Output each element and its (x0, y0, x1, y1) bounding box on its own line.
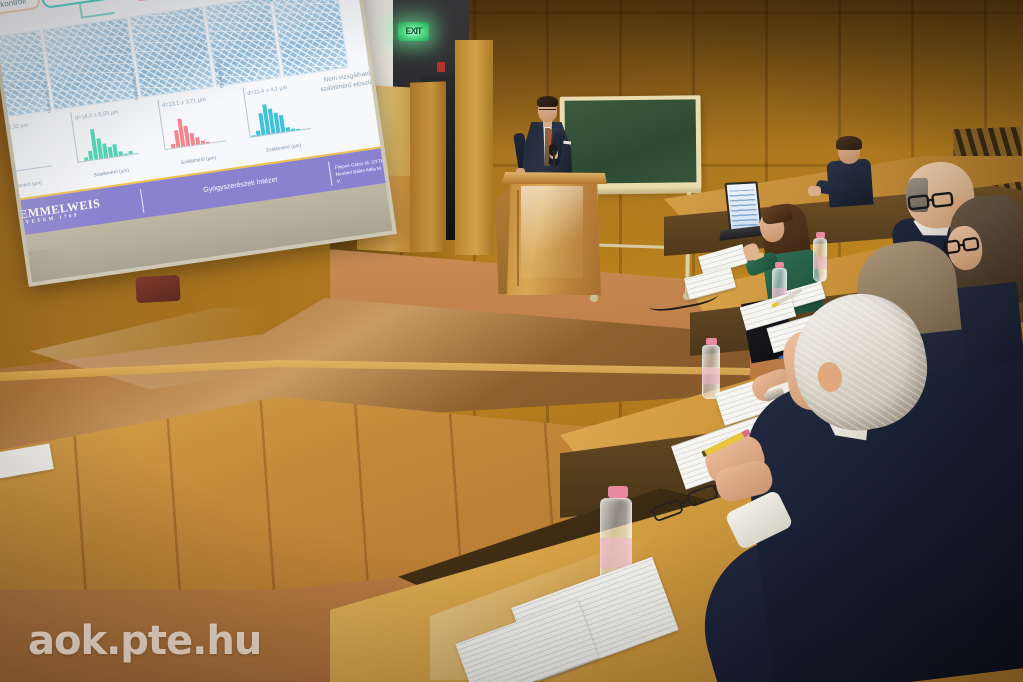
wooden-pillar (455, 40, 493, 255)
lectern-panel-seam (517, 190, 519, 286)
lectern-light-glare (521, 186, 583, 278)
sem-micrograph (272, 0, 349, 77)
slide-connector (81, 12, 115, 19)
banner-divider (140, 189, 144, 213)
histogram-1h-etanol-24h-levego: d=11,4 ± 4,1 µm Gyakoriság (%) Szálátmér… (228, 76, 316, 160)
wooden-partition-mid (410, 81, 446, 252)
histogram-1h-etanol: d=18,6 ± 5,55 µm Gyakoriság (%) Szálátmé… (56, 101, 144, 185)
sem-micrograph (42, 17, 139, 110)
chalkboard-surface (565, 99, 697, 183)
histogram-xlabel: Szálátmérő (µm) (75, 166, 147, 181)
bottle-cap[interactable] (608, 486, 628, 498)
histogram-xlabel: Szálátmérő (µm) (248, 141, 320, 156)
histogram-xlabel: Szálátmérő (µm) (163, 153, 235, 168)
attendee-back-hair (836, 136, 862, 150)
histogram-24h-etanol: d=13,1 ± 3,71 µm Gyakoriság (%) Szálátmé… (143, 89, 231, 173)
bottle-cap[interactable] (706, 338, 717, 345)
lectern-desktop (501, 172, 607, 184)
attendee-back-hand (808, 186, 821, 196)
site-watermark: aok.pte.hu (28, 618, 261, 664)
chalkboard-caster (590, 294, 598, 302)
bottle-label (813, 256, 827, 269)
sem-micrograph (129, 6, 214, 98)
fire-alarm-icon (437, 62, 445, 72)
exit-sign-label: EXIT (400, 25, 427, 38)
lecture-hall-photo: EXIT kontroll 1 h etanol 24 h etanol 1 h… (0, 0, 1023, 682)
slide-chip-24h-etanol: 24 h etanol (130, 0, 206, 2)
slide-chip-kontroll: kontroll (0, 0, 41, 16)
bottle-cap[interactable] (816, 232, 825, 238)
bottle-cap[interactable] (775, 262, 784, 268)
laptop-screen-content (729, 189, 758, 226)
presenter-glasses-icon (539, 106, 556, 110)
bottle-label (702, 368, 720, 384)
chair-backrest (135, 275, 180, 303)
author-credits: Filepné Gábor M. GYTK V. Neubert Bálint … (335, 156, 388, 186)
sem-micrograph (205, 0, 282, 87)
bottle-label (600, 538, 632, 568)
